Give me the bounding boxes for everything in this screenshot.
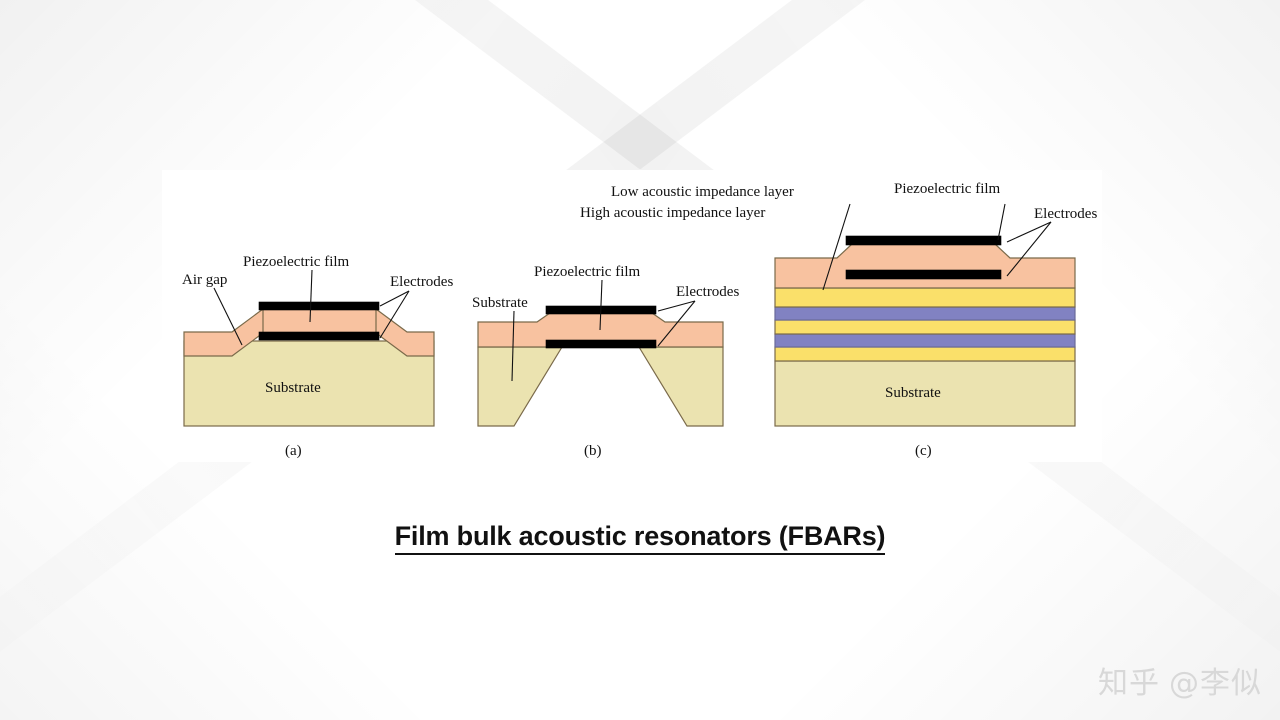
fbar-figure-svg: .sub { fill: #EBE3B0; stroke: #7A6A4A; s…	[162, 170, 1102, 462]
panel-c-low-impedance-layer-2	[775, 320, 1075, 334]
panel-b-label-piezoelectric-film: Piezoelectric film	[534, 264, 641, 280]
watermark-brand: 知乎	[1098, 658, 1160, 702]
panel-c-label-low-acoustic-impedance-layer: Low acoustic impedance layer	[611, 184, 794, 200]
watermark: 知乎 @李似	[1098, 658, 1262, 702]
panel-a-label-piezoelectric-film: Piezoelectric film	[243, 254, 350, 270]
panel-c-high-impedance-layer-1	[775, 334, 1075, 347]
panel-a-piezo-center	[263, 309, 376, 333]
panel-c-caption: (c)	[915, 443, 932, 459]
panel-a-bottom-electrode	[259, 332, 379, 340]
panel-a-label-substrate: Substrate	[265, 380, 321, 396]
panel-c-label-electrodes: Electrodes	[1034, 206, 1097, 222]
panel-b-label-substrate: Substrate	[472, 295, 528, 311]
panel-b-bottom-electrode	[546, 340, 656, 348]
panel-c-label-piezoelectric-film: Piezoelectric film	[894, 181, 1001, 197]
panel-c-low-impedance-layer-3	[775, 288, 1075, 307]
panel-b-caption: (b)	[584, 443, 602, 459]
panel-c-bottom-electrode	[846, 270, 1001, 279]
panel-a-caption: (a)	[285, 443, 302, 459]
panel-c-top-electrode	[846, 236, 1001, 245]
page-title-text: Film bulk acoustic resonators (FBARs)	[395, 521, 886, 555]
panel-c-label-high-acoustic-impedance-layer: High acoustic impedance layer	[580, 205, 765, 221]
page-title: Film bulk acoustic resonators (FBARs)	[0, 521, 1280, 552]
watermark-user: @李似	[1169, 658, 1262, 702]
panel-a-label-air-gap: Air gap	[182, 272, 227, 288]
panel-c-label-substrate: Substrate	[885, 385, 941, 401]
panel-a-label-electrodes: Electrodes	[390, 274, 453, 290]
panel-c-low-impedance-layer-1	[775, 347, 1075, 361]
fbar-figure: .sub { fill: #EBE3B0; stroke: #7A6A4A; s…	[162, 170, 1102, 462]
panel-a-top-electrode	[259, 302, 379, 310]
panel-c-high-impedance-layer-2	[775, 307, 1075, 320]
panel-b-label-electrodes: Electrodes	[676, 284, 739, 300]
